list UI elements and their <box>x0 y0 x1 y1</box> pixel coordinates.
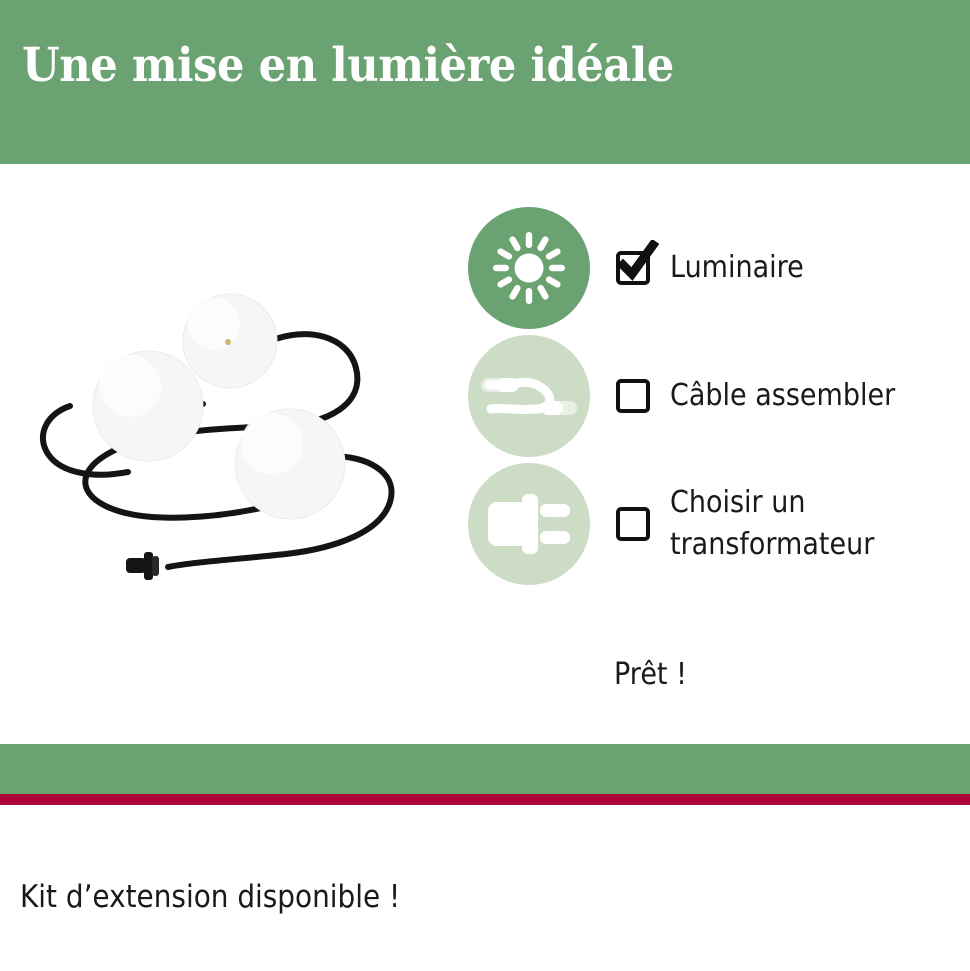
ready-text: Prêt ! <box>614 656 687 694</box>
page-title: Une mise en lumière idéale <box>22 38 674 94</box>
checklist-row-luminaire[interactable]: Luminaire <box>468 204 948 332</box>
footer-green-bar <box>0 744 970 794</box>
checklist-label-luminaire: Luminaire <box>670 247 804 289</box>
plug-icon <box>468 463 590 585</box>
checklist-label-transformer: Choisir un transformateur <box>670 482 874 566</box>
checkbox-box <box>616 507 650 541</box>
checklist-body-cable: Câble assembler <box>616 375 920 417</box>
header-band: Une mise en lumière idéale <box>0 0 970 164</box>
product-photo-string-lights <box>18 286 428 586</box>
cable-connector <box>126 552 159 580</box>
extension-kit-note: Kit d’extension disponible ! <box>20 877 400 917</box>
checkbox-transformer[interactable] <box>616 507 650 541</box>
page-root: Une mise en lumière idéale <box>0 0 970 971</box>
checkbox-box <box>616 251 650 285</box>
sun-icon-glyph <box>489 228 569 308</box>
checklist-row-transformer[interactable]: Choisir un transformateur <box>468 460 948 588</box>
checklist-body-luminaire: Luminaire <box>616 247 819 289</box>
checkbox-luminaire[interactable] <box>616 251 650 285</box>
main-content: Luminaire <box>0 164 970 744</box>
checklist-body-transformer: Choisir un transformateur <box>616 482 897 566</box>
checkbox-cable[interactable] <box>616 379 650 413</box>
checklist: Luminaire <box>468 204 948 588</box>
plug-icon-glyph <box>486 492 572 556</box>
product-illustration <box>18 286 428 586</box>
cable-icon-glyph <box>479 361 579 431</box>
lamp-sphere-left <box>93 351 203 461</box>
checklist-row-cable[interactable]: Câble assembler <box>468 332 948 460</box>
cable-icon <box>468 335 590 457</box>
checkbox-box <box>616 379 650 413</box>
sun-icon <box>468 207 590 329</box>
lamp-sphere-right <box>235 409 345 519</box>
footer-crimson-bar <box>0 794 970 805</box>
checklist-label-cable: Câble assembler <box>670 375 895 417</box>
lamp-sphere-top <box>183 294 277 388</box>
